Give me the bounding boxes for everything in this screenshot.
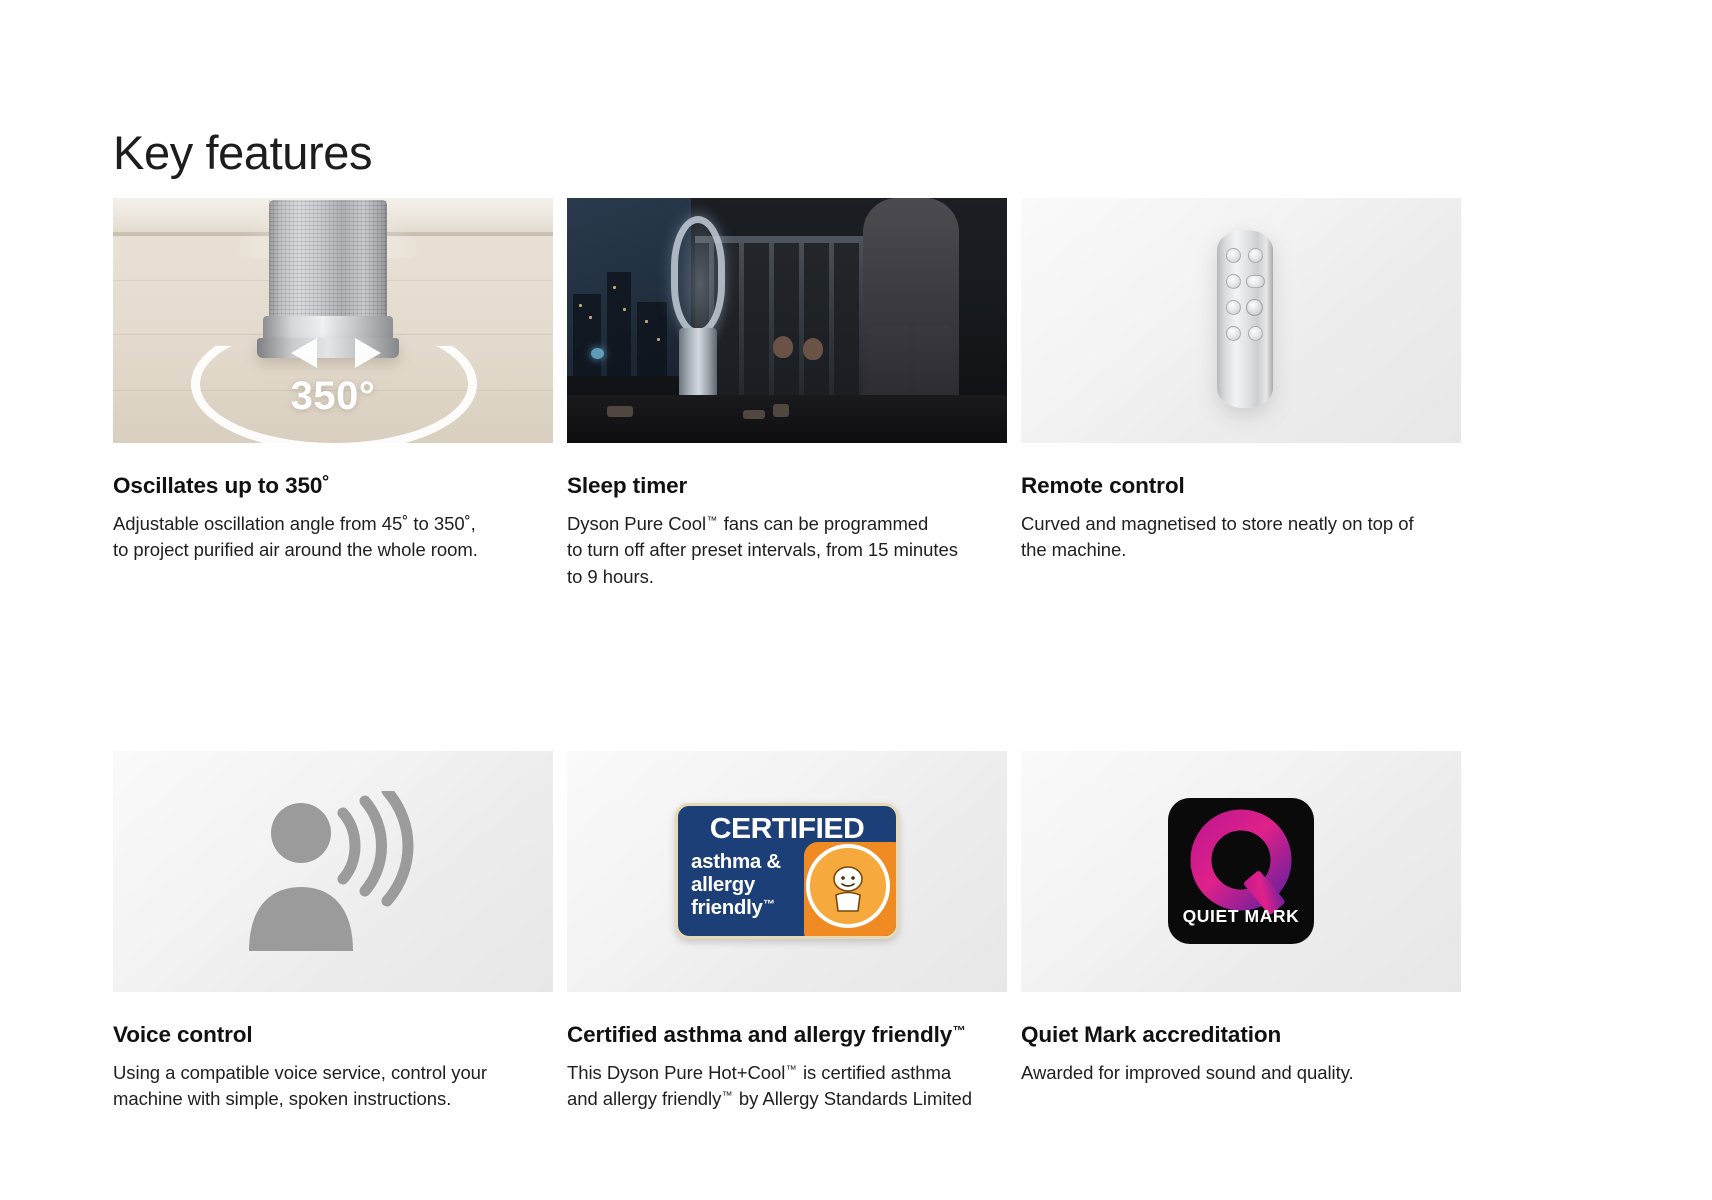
fan-mesh-texture xyxy=(269,200,387,322)
feature-body: Using a compatible voice service, contro… xyxy=(113,1060,553,1113)
body-line: and allergy friendly™ by Allergy Standar… xyxy=(567,1086,1007,1112)
city-light xyxy=(657,338,660,341)
sleep-timer-photo xyxy=(567,198,1007,443)
fan-speed-button-icon xyxy=(1226,274,1241,289)
quiet-mark-badge: QUIET MARK xyxy=(1168,798,1314,944)
sleep-timer-button-icon xyxy=(1248,326,1263,341)
badge-line: asthma & xyxy=(691,851,781,874)
feature-card-asthma-allergy: CERTIFIED asthma & allergy friendly™ xyxy=(567,751,1007,1113)
city-light xyxy=(645,320,648,323)
floor-shadow xyxy=(567,395,1007,443)
oscillation-button-icon xyxy=(1246,299,1263,316)
asthma-allergy-media: CERTIFIED asthma & allergy friendly™ xyxy=(567,751,1007,992)
badge-line: allergy xyxy=(691,874,781,897)
airflow-button-icon xyxy=(1226,326,1241,341)
child-head xyxy=(803,338,823,360)
remote-control-photo xyxy=(1021,198,1461,443)
body-line: the machine. xyxy=(1021,537,1461,563)
city-building xyxy=(573,294,601,376)
feature-card-remote-control: Remote control Curved and magnetised to … xyxy=(1021,198,1461,590)
city-light xyxy=(613,286,616,289)
feature-card-quiet-mark: QUIET MARK Quiet Mark accreditation Awar… xyxy=(1021,751,1461,1113)
certified-asthma-allergy-friendly-badge: CERTIFIED asthma & allergy friendly™ xyxy=(675,803,899,939)
features-row-1: 350° Oscillates up to 350˚ Adjustable os… xyxy=(113,198,1599,590)
feature-title: Quiet Mark accreditation xyxy=(1021,1021,1461,1048)
feature-body: Curved and magnetised to store neatly on… xyxy=(1021,511,1461,564)
fan-base-body xyxy=(679,328,717,398)
badge-subtext: asthma & allergy friendly™ xyxy=(691,851,781,920)
voice-control-media xyxy=(113,751,553,992)
city-building xyxy=(637,302,667,376)
body-line: Awarded for improved sound and quality. xyxy=(1021,1060,1461,1086)
body-line: Adjustable oscillation angle from 45˚ to… xyxy=(113,511,553,537)
feature-title: Remote control xyxy=(1021,472,1461,499)
badge-mascot-icon xyxy=(826,863,870,913)
key-features-page: Key features xyxy=(0,0,1712,1200)
toy xyxy=(607,406,633,417)
city-light xyxy=(623,308,626,311)
badge-orange-circle xyxy=(806,844,890,928)
fan-loop-amplifier xyxy=(671,216,725,336)
body-line: to 9 hours. xyxy=(567,564,1007,590)
fan-body xyxy=(269,200,387,322)
city-light xyxy=(579,304,582,307)
body-line: Using a compatible voice service, contro… xyxy=(113,1060,553,1086)
dyson-fan xyxy=(667,216,729,408)
feature-body: Awarded for improved sound and quality. xyxy=(1021,1060,1461,1086)
auto-button-icon xyxy=(1246,275,1265,288)
info-button-icon xyxy=(1248,248,1263,263)
toy xyxy=(743,410,765,419)
body-line: Dyson Pure Cool™ fans can be programmed xyxy=(567,511,1007,537)
feature-card-voice-control: Voice control Using a compatible voice s… xyxy=(113,751,553,1113)
city-light xyxy=(589,316,592,319)
feature-title: Certified asthma and allergy friendly™ xyxy=(567,1021,1007,1048)
city-building xyxy=(607,272,631,376)
body-line: to project purified air around the whole… xyxy=(113,537,553,563)
fan-display-light xyxy=(591,348,604,359)
feature-card-sleep-timer: Sleep timer Dyson Pure Cool™ fans can be… xyxy=(567,198,1007,590)
power-button-icon xyxy=(1226,248,1241,263)
trademark-symbol: ™ xyxy=(722,1090,733,1102)
feature-title: Sleep timer xyxy=(567,472,1007,499)
arrow-right-icon xyxy=(355,338,381,368)
feature-body: Adjustable oscillation angle from 45˚ to… xyxy=(113,511,553,564)
page-title: Key features xyxy=(113,127,372,179)
body-line: This Dyson Pure Hot+Cool™ is certified a… xyxy=(567,1060,1007,1086)
feature-title: Voice control xyxy=(113,1021,553,1048)
arrow-left-icon xyxy=(291,338,317,368)
trademark-symbol: ™ xyxy=(707,515,718,527)
toy xyxy=(773,404,789,417)
feature-body: Dyson Pure Cool™ fans can be programmed … xyxy=(567,511,1007,590)
child-head xyxy=(773,336,793,358)
trademark-symbol: ™ xyxy=(763,897,775,911)
feature-card-oscillates: 350° Oscillates up to 350˚ Adjustable os… xyxy=(113,198,553,590)
remote-control-device xyxy=(1217,230,1273,408)
trademark-symbol: ™ xyxy=(786,1064,797,1076)
body-line: Curved and magnetised to store neatly on… xyxy=(1021,511,1461,537)
quiet-mark-media: QUIET MARK xyxy=(1021,751,1461,992)
cot-rail xyxy=(739,238,744,400)
badge-line: friendly™ xyxy=(691,897,781,920)
cot-rail xyxy=(769,238,774,400)
feature-title: Oscillates up to 350˚ xyxy=(113,472,553,499)
features-row-2: Voice control Using a compatible voice s… xyxy=(113,751,1599,1113)
voice-control-icon xyxy=(233,791,433,951)
oscillation-angle-label: 350° xyxy=(113,374,553,419)
body-line: machine with simple, spoken instructions… xyxy=(113,1086,553,1112)
feature-body: This Dyson Pure Hot+Cool™ is certified a… xyxy=(567,1060,1007,1113)
oscillation-photo: 350° xyxy=(113,198,553,443)
cot-rail xyxy=(799,238,804,400)
cot-rail xyxy=(829,238,834,400)
trademark-symbol: ™ xyxy=(953,1023,966,1038)
features-grid: 350° Oscillates up to 350˚ Adjustable os… xyxy=(113,198,1599,1112)
quiet-mark-label: QUIET MARK xyxy=(1168,906,1314,927)
body-line: to turn off after preset intervals, from… xyxy=(567,537,1007,563)
minus-button-icon xyxy=(1226,300,1241,315)
